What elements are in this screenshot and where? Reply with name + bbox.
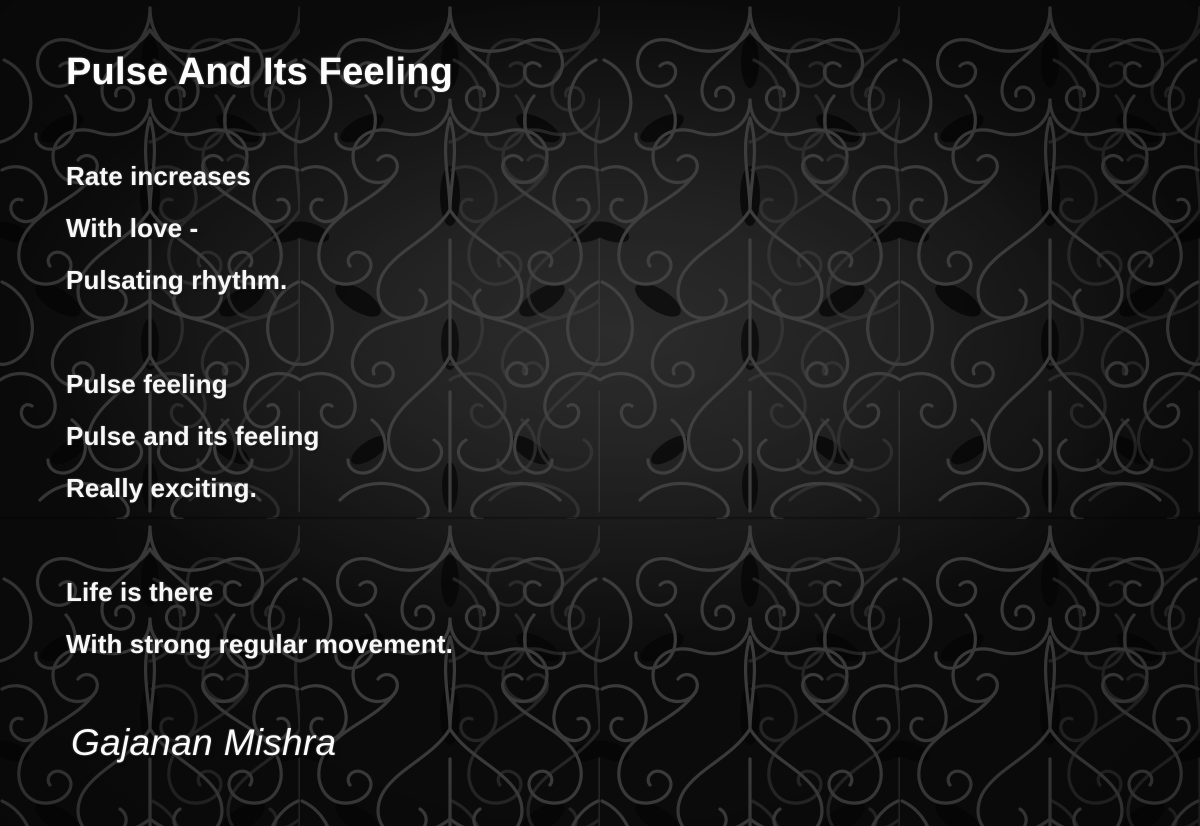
poem-text-column: Pulse And Its Feeling Rate increasesWith… xyxy=(66,0,1126,826)
poem-line-blank xyxy=(66,306,1066,358)
poem-line-blank xyxy=(66,514,1066,566)
poem-line: Life is there xyxy=(66,566,1066,618)
poem-line: Pulse and its feeling xyxy=(66,410,1066,462)
poem-line: With love - xyxy=(66,202,1066,254)
poem-line: Pulsating rhythm. xyxy=(66,254,1066,306)
poem-body: Rate increasesWith love -Pulsating rhyth… xyxy=(66,150,1066,670)
poem-line: Rate increases xyxy=(66,150,1066,202)
poem-image-canvas: Pulse And Its Feeling Rate increasesWith… xyxy=(0,0,1200,826)
poem-line: Pulse feeling xyxy=(66,358,1066,410)
poem-author-name: Gajanan Mishra xyxy=(71,722,336,765)
poem-line: Really exciting. xyxy=(66,462,1066,514)
poem-line: With strong regular movement. xyxy=(66,618,1066,670)
poem-title: Pulse And Its Feeling xyxy=(66,53,453,91)
